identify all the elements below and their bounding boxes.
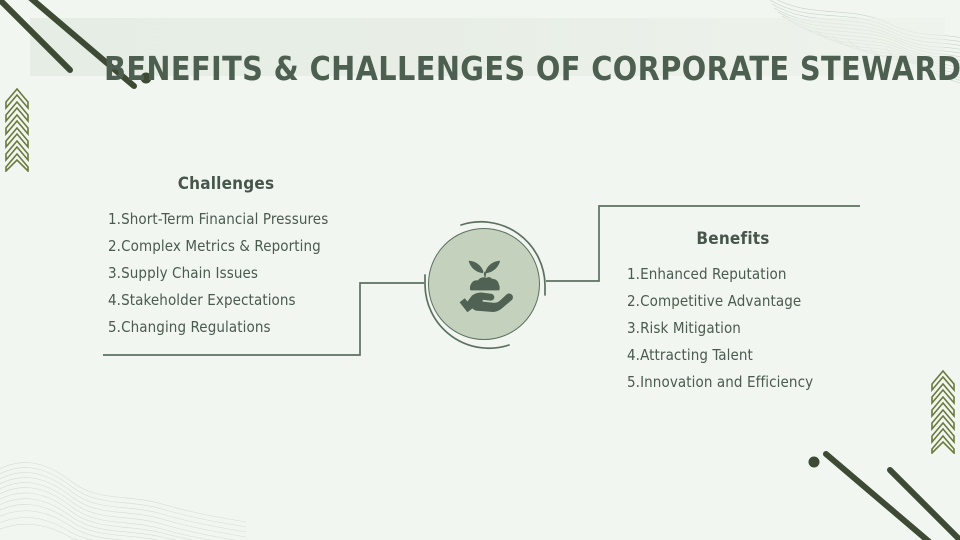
hand-holding-seedling-icon [450,249,520,319]
list-item-label: Attracting Talent [640,346,753,364]
list-item: 4.Attracting Talent [627,342,877,369]
list-item-number: 5. [627,369,640,396]
column-benefits: Benefits 1.Enhanced Reputation 2.Competi… [627,229,877,396]
list-item-number: 2. [108,233,121,260]
list-item-number: 1. [108,206,121,233]
list-item-number: 2. [627,288,640,315]
list-item: 5.Innovation and Efficiency [627,369,877,396]
list-item-label: Competitive Advantage [640,292,801,310]
list-item-number: 4. [627,342,640,369]
list-item-number: 4. [108,287,121,314]
list-item-number: 1. [627,261,640,288]
list-item: 1.Enhanced Reputation [627,261,877,288]
list-item-label: Enhanced Reputation [640,265,786,283]
list-item-label: Changing Regulations [121,318,271,336]
list-item: 2.Complex Metrics & Reporting [108,233,358,260]
list-item-label: Risk Mitigation [640,319,741,337]
list-item: 3.Supply Chain Issues [108,260,358,287]
list-item: 2.Competitive Advantage [627,288,877,315]
list-item: 3.Risk Mitigation [627,315,877,342]
list-item-label: Supply Chain Issues [121,264,258,282]
central-emblem [417,217,553,353]
slide-canvas: BENEFITS & CHALLENGES OF CORPORATE STEWA… [0,0,960,540]
list-item-number: 3. [108,260,121,287]
list-item-number: 5. [108,314,121,341]
benefits-list: 1.Enhanced Reputation 2.Competitive Adva… [627,261,877,396]
column-challenges-heading: Challenges [108,174,344,194]
challenges-list: 1.Short-Term Financial Pressures 2.Compl… [108,206,358,341]
list-item-label: Innovation and Efficiency [640,373,813,391]
list-item-label: Short-Term Financial Pressures [121,210,328,228]
list-item-label: Stakeholder Expectations [121,291,296,309]
list-item: 4.Stakeholder Expectations [108,287,358,314]
column-benefits-heading: Benefits [627,229,839,249]
list-item-label: Complex Metrics & Reporting [121,237,321,255]
list-item: 5.Changing Regulations [108,314,358,341]
list-item-number: 3. [627,315,640,342]
column-challenges: Challenges 1.Short-Term Financial Pressu… [108,174,358,341]
list-item: 1.Short-Term Financial Pressures [108,206,358,233]
